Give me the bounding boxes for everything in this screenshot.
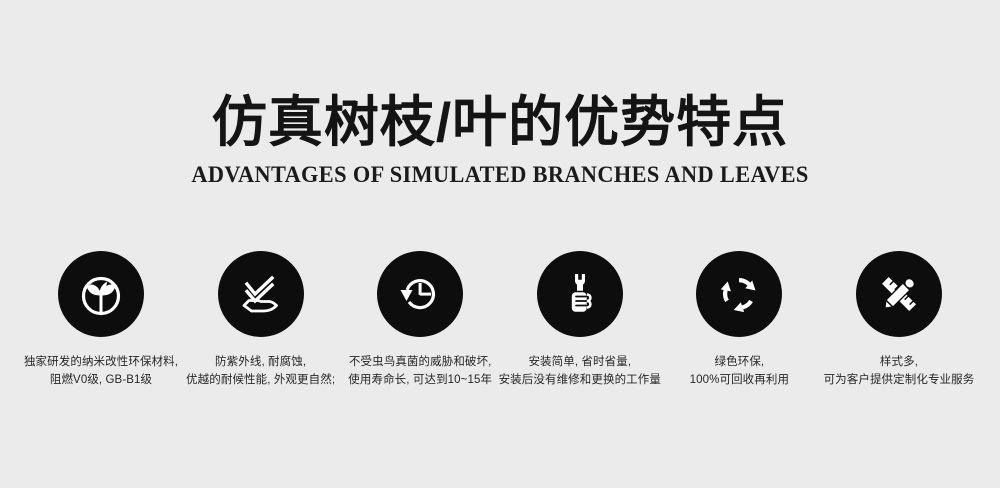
clock-rewind-icon bbox=[377, 251, 463, 337]
caption-line-2: 可为客户提供定制化专业服务 bbox=[824, 372, 975, 390]
feature-caption: 安装简单, 省时省量, 安装后没有维修和更换的工作量 bbox=[499, 354, 661, 390]
feature-caption: 样式多, 可为客户提供定制化专业服务 bbox=[824, 354, 975, 390]
caption-line-2: 使用寿命长, 可达到10~15年 bbox=[348, 372, 492, 390]
caption-line-1: 安装简单, 省时省量, bbox=[528, 356, 631, 368]
feature-caption: 独家研发的纳米改性环保材料, 阻燃V0级, GB-B1级 bbox=[24, 354, 178, 390]
caption-line-2: 阻燃V0级, GB-B1级 bbox=[24, 372, 178, 390]
feature-caption: 绿色环保, 100%可回收再利用 bbox=[690, 354, 789, 390]
hand-wrench-icon bbox=[537, 251, 623, 337]
caption-line-1: 不受虫鸟真菌的威胁和破坏, bbox=[349, 356, 492, 368]
hand-double-check-icon bbox=[218, 251, 304, 337]
feature-item: 防紫外线, 耐腐蚀, 优越的耐候性能, 外观更自然; bbox=[182, 251, 340, 390]
page-subtitle: ADVANTAGES OF SIMULATED BRANCHES AND LEA… bbox=[15, 162, 985, 188]
feature-item: 独家研发的纳米改性环保材料, 阻燃V0级, GB-B1级 bbox=[22, 251, 180, 390]
caption-line-1: 防紫外线, 耐腐蚀, bbox=[215, 356, 306, 368]
caption-line-2: 安装后没有维修和更换的工作量 bbox=[499, 372, 661, 390]
caption-line-2: 100%可回收再利用 bbox=[690, 372, 789, 390]
caption-line-2: 优越的耐候性能, 外观更自然; bbox=[186, 372, 335, 390]
caption-line-1: 样式多, bbox=[880, 356, 918, 368]
feature-caption: 不受虫鸟真菌的威胁和破坏, 使用寿命长, 可达到10~15年 bbox=[348, 354, 492, 390]
feature-item: 样式多, 可为客户提供定制化专业服务 bbox=[820, 251, 978, 390]
caption-line-1: 绿色环保, bbox=[715, 356, 765, 368]
caption-line-1: 独家研发的纳米改性环保材料, bbox=[24, 356, 178, 368]
sprout-leaf-icon bbox=[58, 251, 144, 337]
feature-item: 不受虫鸟真菌的威胁和破坏, 使用寿命长, 可达到10~15年 bbox=[341, 251, 499, 390]
advantages-banner: 仿真树枝/叶的优势特点 ADVANTAGES OF SIMULATED BRAN… bbox=[0, 0, 1000, 488]
pencil-ruler-icon bbox=[856, 251, 942, 337]
feature-list: 独家研发的纳米改性环保材料, 阻燃V0级, GB-B1级 防紫外线, 耐腐蚀, … bbox=[0, 251, 1000, 390]
page-title: 仿真树枝/叶的优势特点 bbox=[0, 92, 1000, 154]
feature-caption: 防紫外线, 耐腐蚀, 优越的耐候性能, 外观更自然; bbox=[186, 354, 335, 390]
recycle-arrows-icon bbox=[696, 251, 782, 337]
feature-item: 绿色环保, 100%可回收再利用 bbox=[660, 251, 818, 390]
heading-block: 仿真树枝/叶的优势特点 ADVANTAGES OF SIMULATED BRAN… bbox=[0, 92, 1000, 188]
feature-item: 安装简单, 省时省量, 安装后没有维修和更换的工作量 bbox=[501, 251, 659, 390]
